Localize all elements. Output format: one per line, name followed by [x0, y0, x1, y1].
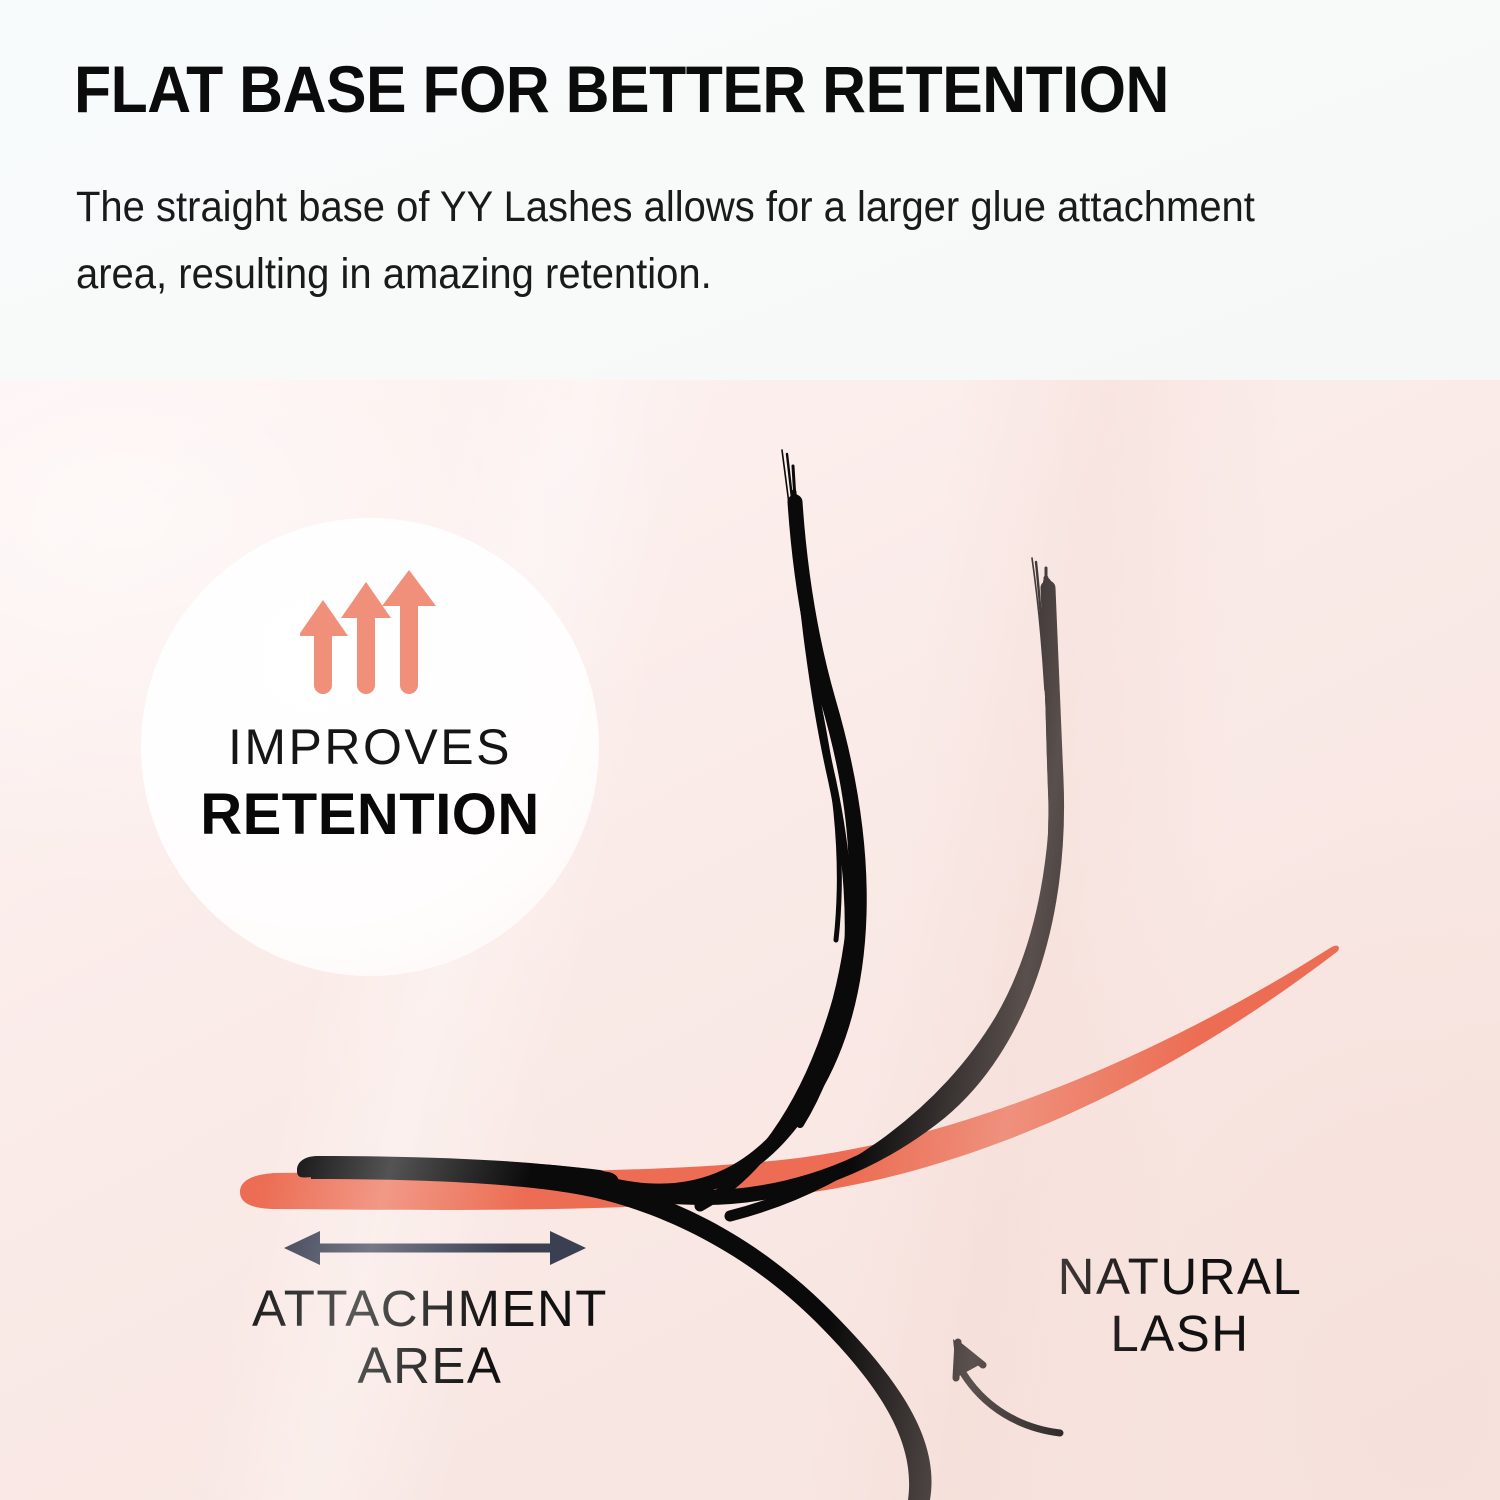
badge-label-primary: IMPROVES [228, 722, 512, 772]
header-section: FLAT BASE FOR BETTER RETENTION The strai… [0, 0, 1500, 380]
badge-label-secondary: RETENTION [200, 786, 540, 844]
attachment-area-label: ATTACHMENT AREA [130, 1280, 730, 1394]
three-ascending-arrows-icon [300, 570, 440, 696]
improves-retention-badge: IMPROVES RETENTION [141, 518, 599, 976]
illustration-panel: IMPROVES RETENTION ATTACHMENT AREA NATUR… [0, 380, 1500, 1500]
natural-lash-label: NATURAL LASH [900, 1248, 1460, 1362]
page-title: FLAT BASE FOR BETTER RETENTION [74, 56, 1325, 122]
double-headed-arrow-icon [284, 1231, 586, 1265]
infographic-page: FLAT BASE FOR BETTER RETENTION The strai… [0, 0, 1500, 1500]
page-subtitle: The straight base of YY Lashes allows fo… [76, 174, 1285, 308]
